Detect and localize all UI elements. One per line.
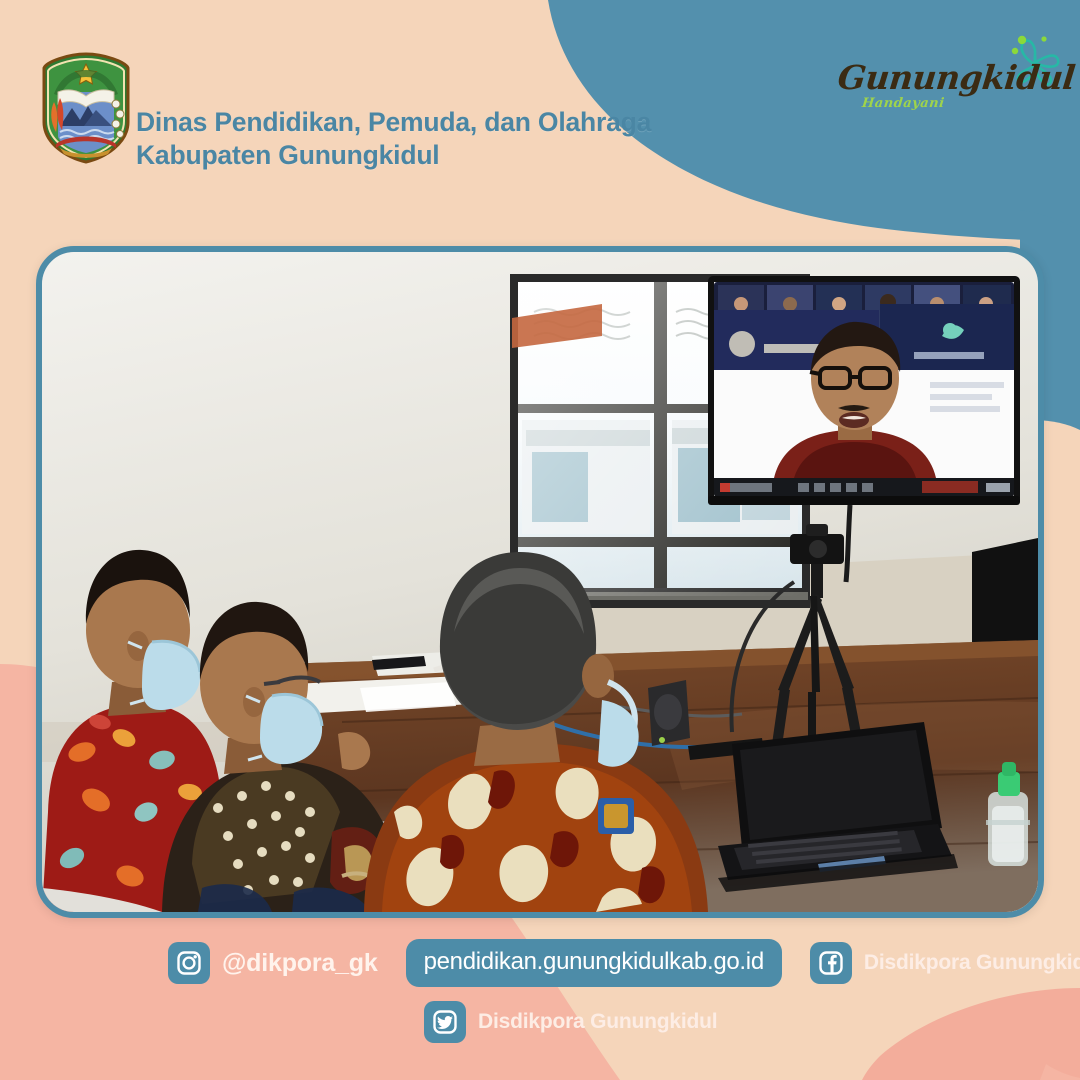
brand-tagline: Handayani (861, 96, 945, 111)
social-row-primary: @dikpora_gk pendidikan.gunungkidulkab.go… (168, 938, 1080, 988)
brand-wordmark: Gunungkidul (836, 58, 1030, 97)
instagram-icon[interactable] (168, 942, 210, 984)
facebook-icon[interactable] (810, 942, 852, 984)
photo-card (36, 246, 1044, 918)
social-media-poster: Dinas Pendidikan, Pemuda, dan Olahraga K… (0, 0, 1080, 1080)
twitter-icon[interactable] (424, 1001, 466, 1043)
social-footer: @dikpora_gk pendidikan.gunungkidulkab.go… (0, 938, 1080, 1058)
website-url-pill[interactable]: pendidikan.gunungkidulkab.go.id (406, 939, 782, 987)
instagram-handle[interactable]: @dikpora_gk (222, 949, 378, 978)
social-row-twitter: Disdikpora Gunungkidul (424, 1000, 717, 1044)
twitter-name[interactable]: Disdikpora Gunungkidul (478, 1010, 717, 1034)
spacer (782, 963, 810, 964)
page-title: Dinas Pendidikan, Pemuda, dan Olahraga K… (136, 72, 651, 207)
org-title-line-1: Dinas Pendidikan, Pemuda, dan Olahraga (136, 107, 651, 137)
org-title-line-2: Kabupaten Gunungkidul (136, 139, 651, 173)
meeting-photo (42, 252, 1038, 912)
regency-crest-icon (40, 52, 132, 164)
regency-brand: Gunungkidul Handayani (838, 44, 1058, 136)
facebook-name[interactable]: Disdikpora Gunungkidul (864, 951, 1080, 975)
